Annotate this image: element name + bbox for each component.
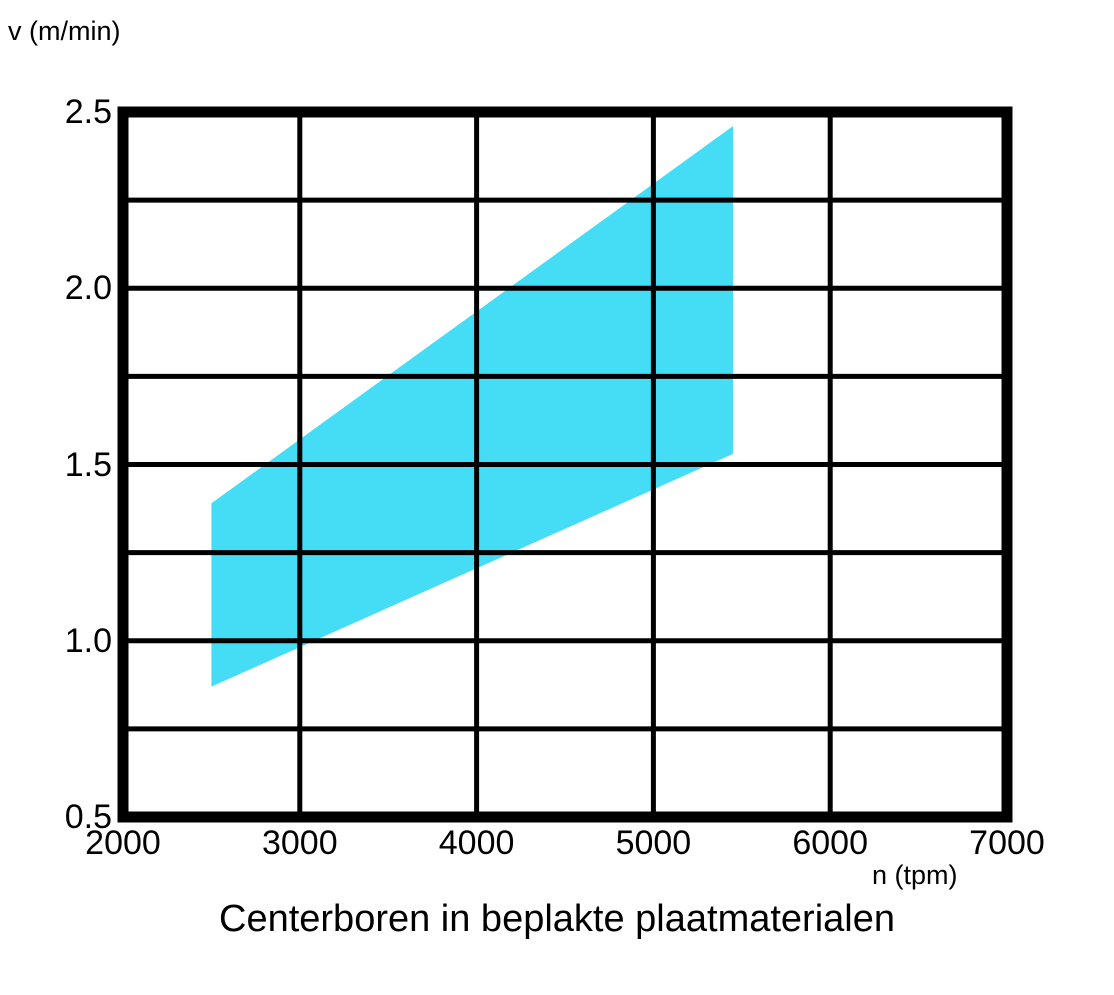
x-tick-label: 7000 (927, 826, 1087, 860)
chart-caption: Centerboren in beplakte plaatmaterialen (0, 900, 1114, 938)
chart-figure: v (m/min) 0.51.01.52.02.5 20003000400050… (0, 0, 1114, 995)
x-tick-label: 2000 (43, 826, 203, 860)
x-tick-label: 3000 (220, 826, 380, 860)
x-tick-label: 6000 (750, 826, 910, 860)
x-tick-label: 4000 (397, 826, 557, 860)
x-axis-ticks: 200030004000500060007000 (0, 0, 1114, 995)
x-axis-label: n (tpm) (872, 862, 958, 889)
x-tick-label: 5000 (573, 826, 733, 860)
